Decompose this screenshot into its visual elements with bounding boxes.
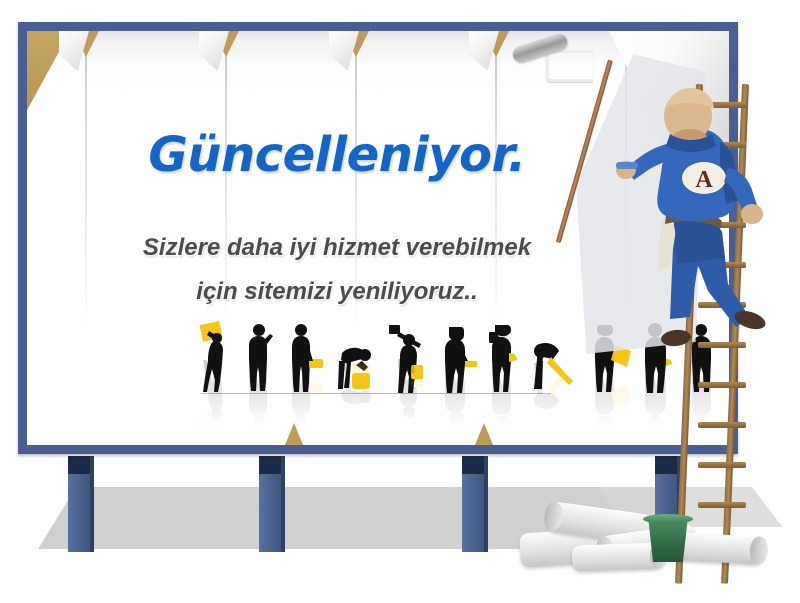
billboard-leg <box>259 456 281 552</box>
worker-silhouette <box>387 321 431 393</box>
leg-edge <box>90 456 94 552</box>
worker-silhouette <box>332 321 378 393</box>
ladder-rung <box>698 422 746 428</box>
ladder-rung <box>698 502 746 508</box>
bucket-rim <box>643 514 693 524</box>
subtitle-line-2: için sitemizi yeniliyoruz.. <box>27 270 647 314</box>
leg-cap <box>259 456 281 474</box>
painter-badge-letter: A <box>695 167 713 193</box>
ladder-rung <box>698 382 746 388</box>
painter-figure: A <box>600 72 790 372</box>
painter-shoe <box>660 328 692 347</box>
billboard-leg <box>68 456 90 552</box>
leg-edge <box>281 456 285 552</box>
worker-silhouette <box>483 321 523 393</box>
page-subtitle: Sizlere daha iyi hizmet verebilmek için … <box>27 226 647 314</box>
worker-reflection <box>197 359 235 431</box>
subtitle-line-1: Sizlere daha iyi hizmet verebilmek <box>143 234 531 261</box>
worker-silhouette <box>529 321 581 393</box>
leg-cap <box>462 456 484 474</box>
worker-reflection <box>243 359 277 431</box>
painter-cuff <box>616 162 638 169</box>
worker-reflection <box>332 359 378 431</box>
maintenance-page: Güncelleniyor. Sizlere daha iyi hizmet v… <box>0 0 800 603</box>
worker-silhouette <box>439 321 479 393</box>
green-paint-bucket <box>646 518 690 562</box>
leg-cap <box>68 456 90 474</box>
painter-hand-right <box>741 204 763 224</box>
worker-silhouette <box>287 321 327 393</box>
billboard-leg <box>462 456 484 552</box>
page-title: Güncelleniyor. <box>27 127 647 183</box>
worker-silhouette-strip <box>187 321 567 431</box>
worker-silhouette <box>197 321 235 393</box>
roller-frame <box>546 50 593 82</box>
paper-roll <box>572 542 665 571</box>
worker-reflection <box>387 359 431 431</box>
worker-silhouette <box>243 321 277 393</box>
worker-reflection <box>483 359 523 431</box>
ladder-rung <box>698 462 746 468</box>
worker-reflection <box>529 359 581 431</box>
painter-scene: A <box>586 24 800 584</box>
worker-reflection <box>287 359 327 431</box>
worker-reflection <box>439 359 479 431</box>
leg-edge <box>484 456 488 552</box>
